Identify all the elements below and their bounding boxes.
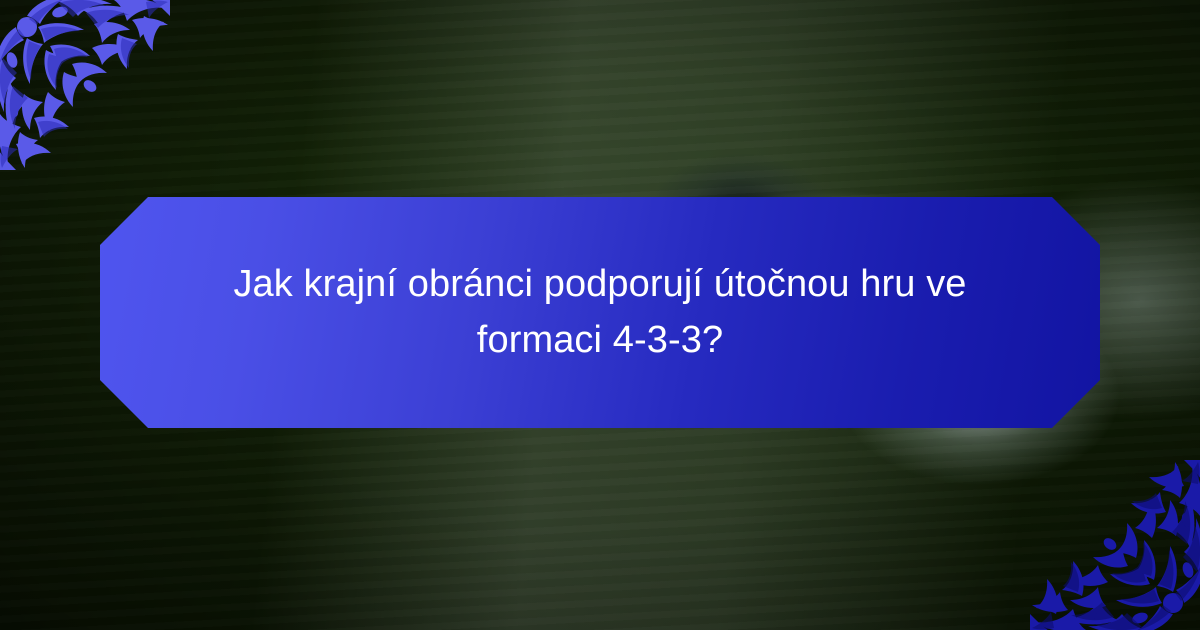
social-card-canvas: Jak krajní obránci podporují útočnou hru…	[0, 0, 1200, 630]
banner-title: Jak krajní obránci podporují útočnou hru…	[210, 257, 990, 367]
headline-banner: Jak krajní obránci podporují útočnou hru…	[100, 197, 1100, 428]
